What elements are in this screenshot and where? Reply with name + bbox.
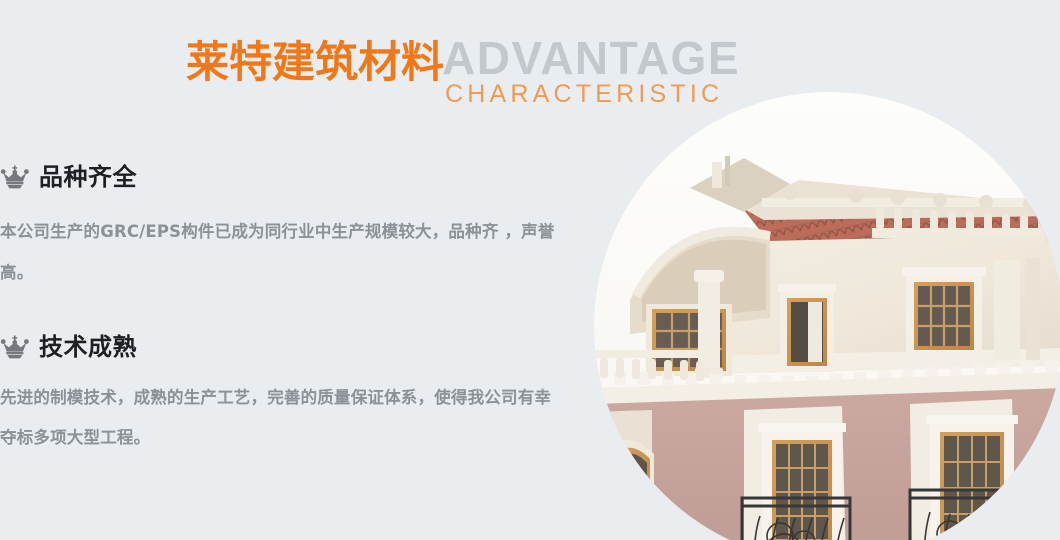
feature-block-1: 品种齐全 本公司生产的GRC/EPS构件已成为同行业中生产规模较大，品种齐 ，声…: [0, 160, 560, 293]
feature-1-body: 本公司生产的GRC/EPS构件已成为同行业中生产规模较大，品种齐 ，声誉高。: [0, 211, 560, 293]
banner-title-en: ADVANTAGE: [442, 34, 740, 82]
feature-2-header: 技术成熟: [0, 330, 560, 364]
feature-1-title: 品种齐全: [39, 162, 137, 192]
banner-title: 莱特建筑材料 ADVANTAGE CHARACTERISTIC: [186, 38, 740, 108]
villa-photo-illustration: [594, 92, 1060, 540]
crown-icon: [0, 165, 30, 189]
villa-photo-circle: [594, 92, 1060, 540]
feature-block-2: 技术成熟 先进的制模技术，成熟的生产工艺，完善的质量保证体系，使得我公司有幸夺标…: [0, 330, 560, 458]
banner-title-cn: 莱特建筑材料: [186, 38, 444, 88]
promo-banner: 莱特建筑材料 ADVANTAGE CHARACTERISTIC 品种齐全: [0, 0, 1060, 540]
banner-title-en-group: ADVANTAGE CHARACTERISTIC: [442, 34, 740, 108]
feature-1-header: 品种齐全: [0, 160, 560, 194]
feature-2-body: 先进的制模技术，成熟的生产工艺，完善的质量保证体系，使得我公司有幸夺标多项大型工…: [0, 378, 560, 458]
banner-subtitle-en: CHARACTERISTIC: [445, 80, 740, 108]
feature-2-title: 技术成熟: [39, 332, 137, 362]
crown-icon: [0, 335, 30, 359]
